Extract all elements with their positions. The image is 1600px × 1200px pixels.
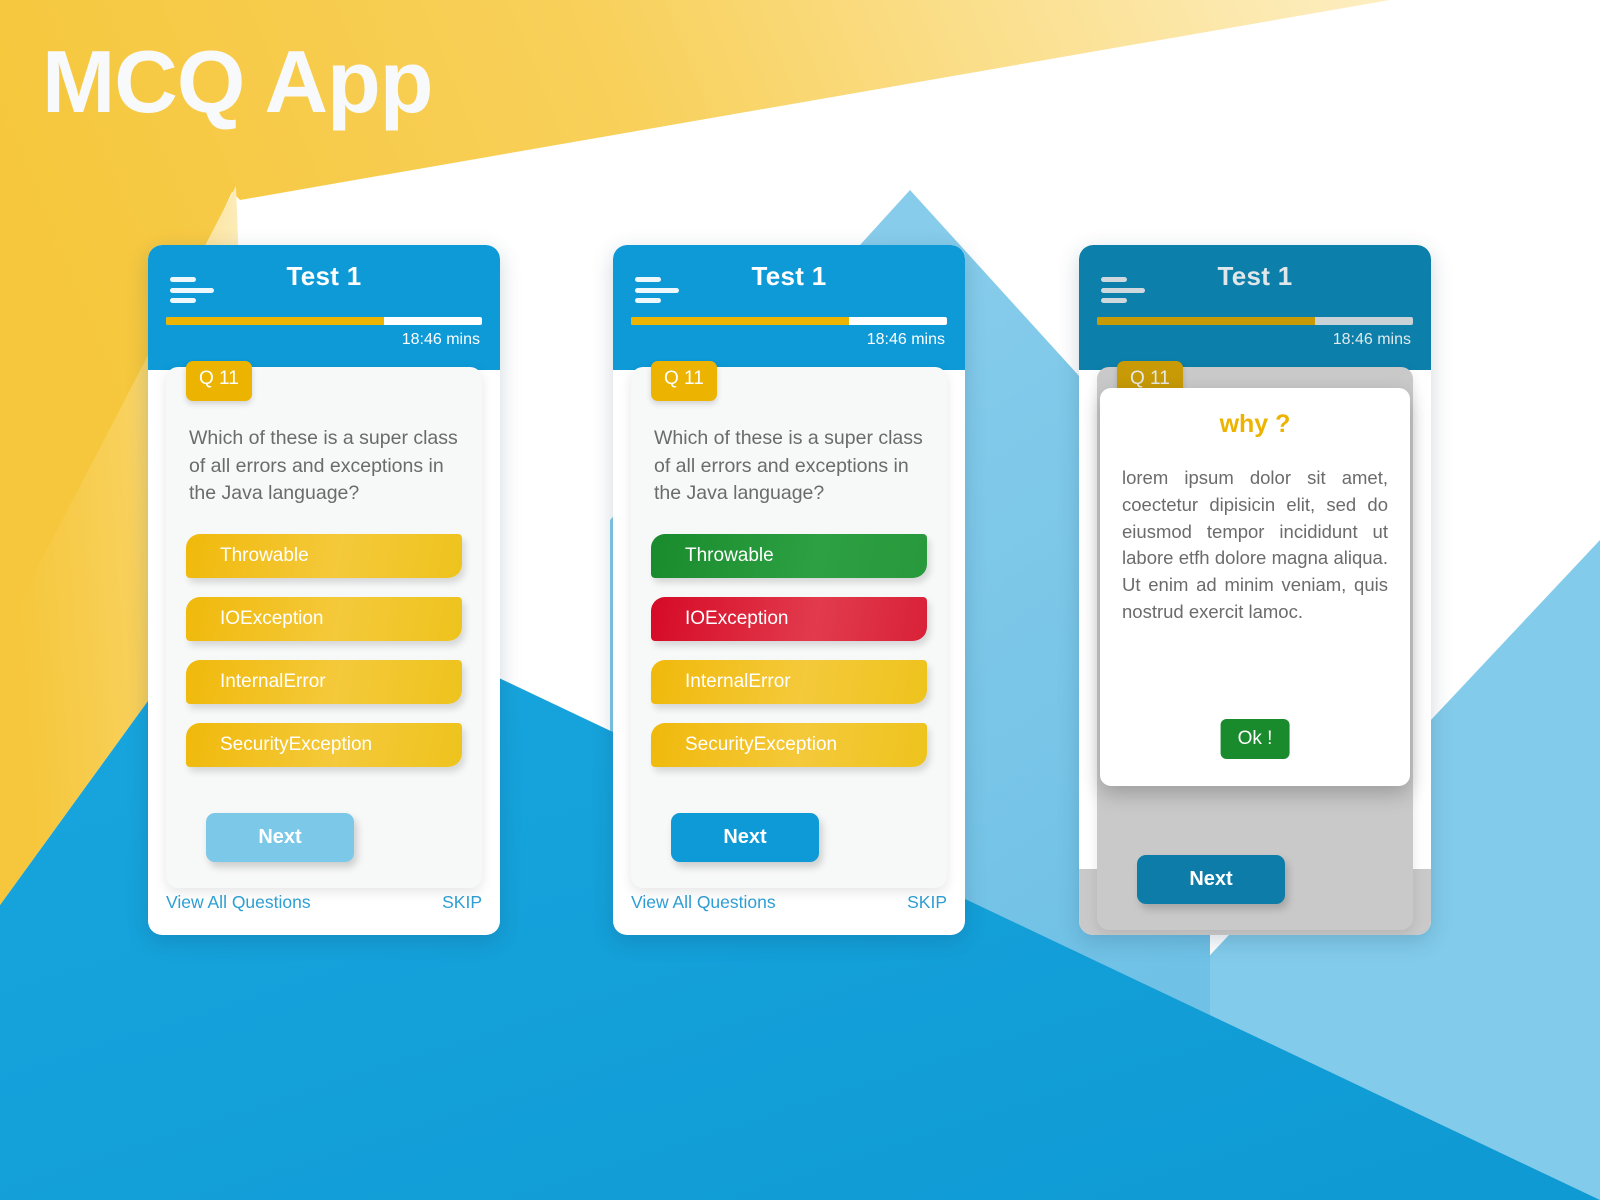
app-bar: Test 1 18:46 mins [1079, 245, 1431, 370]
hamburger-icon[interactable] [635, 277, 679, 303]
next-button[interactable]: Next [671, 813, 819, 862]
phone-screen-answered: Test 1 18:46 mins Q 11 Which of these is… [613, 245, 965, 935]
app-bar: Test 1 18:46 mins [613, 245, 965, 370]
question-card-wrap: Q 11 Which of these is a super class of … [148, 367, 500, 888]
hamburger-icon[interactable] [1101, 277, 1145, 303]
answer-option[interactable]: InternalError [186, 660, 462, 704]
answer-option-wrong[interactable]: IOException [651, 597, 927, 641]
answer-option[interactable]: Throwable [186, 534, 462, 578]
answer-option[interactable]: SecurityException [651, 723, 927, 767]
answer-list: Throwable IOException InternalError Secu… [186, 534, 462, 767]
progress-fill [166, 317, 384, 325]
question-text: Which of these is a super class of all e… [186, 425, 462, 508]
modal-title: why ? [1122, 410, 1388, 439]
answer-option[interactable]: IOException [186, 597, 462, 641]
hamburger-icon[interactable] [170, 277, 214, 303]
progress-bar [166, 317, 482, 325]
skip-link[interactable]: SKIP [907, 892, 947, 913]
answer-option[interactable]: InternalError [651, 660, 927, 704]
question-card-wrap: Q 11 Which of these is a super class of … [613, 367, 965, 888]
view-all-questions-link[interactable]: View All Questions [166, 892, 311, 913]
modal-body-text: lorem ipsum dolor sit amet, coectetur di… [1122, 465, 1388, 626]
explanation-modal: why ? lorem ipsum dolor sit amet, coecte… [1100, 388, 1410, 786]
answer-option-correct[interactable]: Throwable [651, 534, 927, 578]
timer-label: 18:46 mins [402, 331, 480, 349]
timer-label: 18:46 mins [867, 331, 945, 349]
skip-link[interactable]: SKIP [442, 892, 482, 913]
answer-list: Throwable IOException InternalError Secu… [651, 534, 927, 767]
question-number-badge: Q 11 [651, 361, 717, 401]
answer-option[interactable]: SecurityException [186, 723, 462, 767]
timer-label: 18:46 mins [1333, 331, 1411, 349]
app-bar: Test 1 18:46 mins [148, 245, 500, 370]
question-text: Which of these is a super class of all e… [651, 425, 927, 508]
page-title: MCQ App [42, 38, 433, 126]
view-all-questions-link[interactable]: View All Questions [631, 892, 776, 913]
progress-bar [1097, 317, 1413, 325]
progress-fill [631, 317, 849, 325]
progress-bar [631, 317, 947, 325]
question-number-badge: Q 11 [186, 361, 252, 401]
question-card: Which of these is a super class of all e… [166, 367, 482, 888]
phone-screen-unanswered: Test 1 18:46 mins Q 11 Which of these is… [148, 245, 500, 935]
next-button[interactable]: Next [1137, 855, 1285, 904]
progress-fill [1097, 317, 1315, 325]
next-button[interactable]: Next [206, 813, 354, 862]
modal-ok-button[interactable]: Ok ! [1221, 719, 1290, 759]
question-card: Which of these is a super class of all e… [631, 367, 947, 888]
